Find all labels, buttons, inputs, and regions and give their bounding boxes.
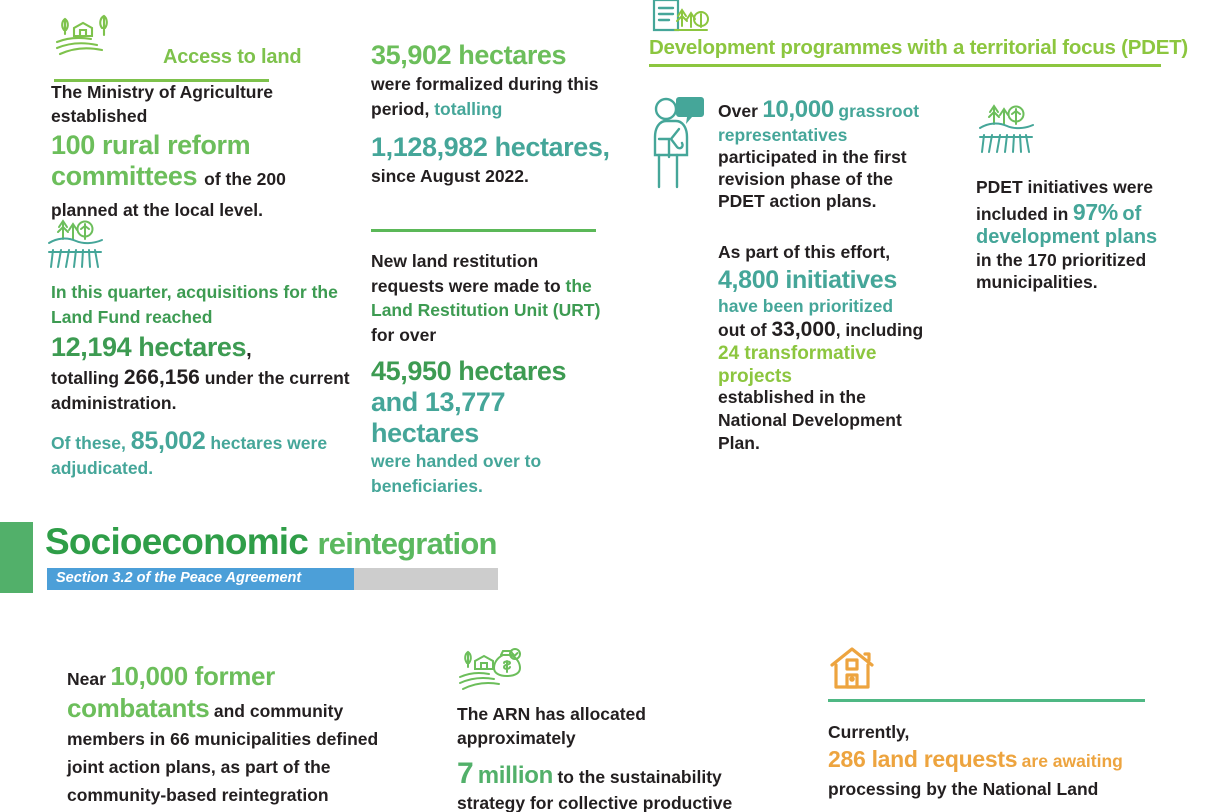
initiatives-number: 4,800 initiatives — [718, 266, 936, 295]
formalized-cumulative: 1,128,982 hectares, — [371, 132, 621, 163]
land-fund-totalling: totalling 266,156 under the current admi… — [51, 366, 351, 415]
arn-lead: The ARN has allocated approximately — [457, 702, 757, 750]
restitution-hectares-2: and 13,777 hectares — [371, 387, 611, 449]
restitution-unit-2: hectares — [371, 418, 479, 448]
including-label: , including — [836, 320, 924, 340]
restitution-number-1: 45,950 — [371, 356, 451, 386]
pdet-of-label: of — [1122, 203, 1141, 225]
arn-allocation-block: The ARN has allocated approximately 7 mi… — [457, 702, 757, 812]
pdet-title: Development programmes with a territoria… — [649, 36, 1188, 60]
access-to-land-body: The Ministry of Agriculture established … — [51, 80, 356, 222]
section-title-light: reintegration — [318, 526, 497, 561]
farm-field-trees-icon — [978, 100, 1040, 163]
transformative-projects-label: 24 transformative projects — [718, 342, 936, 388]
restitution-block: New land restitution requests were made … — [371, 249, 611, 498]
formalized-number: 35,902 — [371, 40, 451, 70]
person-speech-bubble-icon — [649, 95, 709, 196]
land-requests-number: 286 land requests — [828, 746, 1017, 772]
initiatives-outof: out of 33,000, including — [718, 318, 936, 342]
land-fund-block: In this quarter, acquisitions for the La… — [51, 280, 351, 480]
awaiting-label: are awaiting — [1022, 751, 1123, 771]
totalling-label: totalling — [51, 368, 119, 388]
cumulative-number: 1,128,982 — [371, 132, 488, 162]
farm-house-trees-icon — [54, 12, 120, 67]
formalized-totalling: totalling — [434, 99, 502, 119]
restitution-tail: were handed over to beneficiaries. — [371, 449, 611, 498]
restitution-number-2: 13,777 — [425, 387, 505, 417]
land-fund-number: 12,194 hectares — [51, 332, 246, 362]
pdet-percentage: 97% — [1073, 199, 1118, 225]
adjudicated-line: Of these, 85,002 hectares were adjudicat… — [51, 429, 351, 480]
middle-column-divider — [371, 229, 596, 232]
section-title-bold: Socioeconomic — [45, 521, 308, 562]
access-to-land-header: Access to land — [50, 10, 350, 72]
since-august: since August 2022. — [371, 164, 621, 189]
restitution-forover: for over — [371, 325, 436, 345]
development-plans-label: development plans — [976, 226, 1157, 248]
arn-number: 7 — [457, 757, 473, 790]
adjudicated-number: 85,002 — [131, 427, 206, 455]
currently-label: Currently, — [828, 718, 1158, 746]
arn-amount-line: 7 million to the sustainability strategy… — [457, 757, 757, 812]
adjudicated-lead: Of these, — [51, 433, 126, 453]
restitution-hectares-1: 45,950 hectares — [371, 356, 611, 387]
formalized-headline: 35,902 hectares — [371, 40, 621, 71]
ndp-tail: established in the National Development … — [718, 386, 936, 455]
socioeconomic-section-title: Socioeconomic reintegration — [45, 521, 497, 563]
land-requests-block: Currently, 286 land requests are awaitin… — [828, 718, 1158, 803]
farm-field-trees-icon — [47, 215, 109, 278]
restitution-and: and — [371, 387, 418, 417]
prioritized-municipalities: in the 170 prioritized municipalities. — [976, 250, 1146, 293]
formalized-body: were formalized during this period, tota… — [371, 72, 621, 121]
farm-money-bag-icon — [457, 645, 523, 702]
section-accent-bar — [0, 522, 33, 593]
over-label: Over — [718, 101, 758, 121]
restitution-intro: New land restitution requests were made … — [371, 251, 561, 296]
totalling-number: 266,156 — [124, 366, 200, 389]
ministry-line: The Ministry of Agriculture established — [51, 80, 356, 128]
initiatives-block: As part of this effort, 4,800 initiative… — [718, 241, 936, 455]
arn-unit: million — [478, 762, 553, 789]
land-fund-comma: , — [246, 339, 251, 361]
rural-reform-committees-stat: 100 rural reform committees of the 200 — [51, 130, 356, 195]
pdet-divider — [649, 64, 1161, 67]
formalization-block: 35,902 hectares were formalized during t… — [371, 40, 621, 189]
committees-suffix: of the 200 — [204, 169, 286, 189]
restitution-unit-1: hectares — [458, 356, 566, 386]
land-requests-divider — [828, 699, 1145, 702]
outof-label: out of — [718, 320, 767, 340]
grassroot-number: 10,000 — [762, 96, 834, 123]
access-to-land-title: Access to land — [163, 46, 301, 69]
land-fund-hectares: 12,194 hectares, — [51, 331, 351, 366]
section-subtitle-text: Section 3.2 of the Peace Agreement — [56, 570, 301, 586]
land-requests-tail: processing by the National Land — [828, 775, 1158, 803]
former-combatants-block: Near 10,000 former combatants and commun… — [67, 661, 397, 812]
infographic-page: Access to land The Ministry of Agricultu… — [0, 0, 1218, 812]
cumulative-unit: hectares, — [495, 132, 610, 162]
near-label: Near — [67, 669, 106, 689]
section-subtitle-grey-bar — [354, 568, 498, 590]
house-icon — [828, 645, 876, 696]
restitution-lead: New land restitution requests were made … — [371, 249, 611, 347]
land-requests-line: 286 land requests are awaiting — [828, 746, 1158, 775]
grassroot-body: participated in the first revision phase… — [718, 147, 907, 211]
initiatives-prioritized: have been prioritized — [718, 295, 936, 318]
formalized-unit: hectares — [458, 40, 566, 70]
land-fund-lead: In this quarter, acquisitions for the La… — [51, 280, 351, 329]
outof-total: 33,000 — [771, 318, 835, 341]
effort-intro: As part of this effort, — [718, 241, 936, 264]
development-plans-block: PDET initiatives were included in 97% of… — [976, 176, 1176, 294]
grassroot-participation-block: Over 10,000 grassroot representatives pa… — [718, 96, 933, 212]
